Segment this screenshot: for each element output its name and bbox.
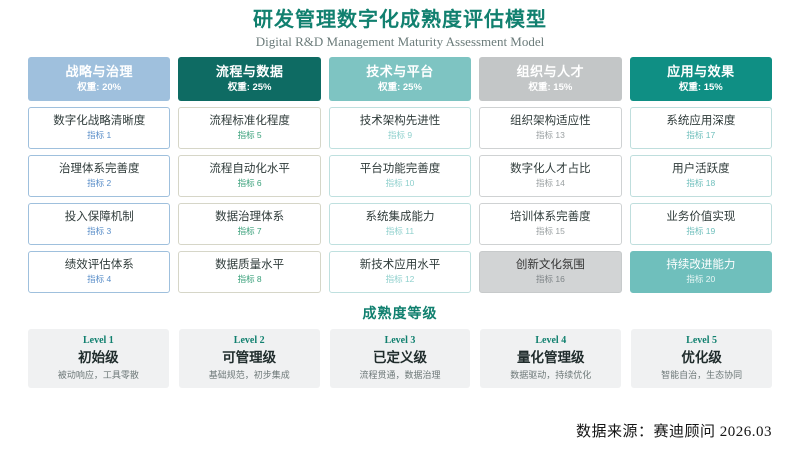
matrix-column-application: 应用与效果 权重: 15% 系统应用深度 指标 17 用户活跃度 指标 18 业… xyxy=(630,57,772,293)
indicator-index: 指标 6 xyxy=(238,179,262,188)
indicator-index: 指标 5 xyxy=(238,131,262,140)
data-source-footer: 数据来源：赛迪顾问 2026.03 xyxy=(576,420,772,441)
indicator-name: 系统应用深度 xyxy=(666,115,735,129)
indicator-card[interactable]: 治理体系完善度 指标 2 xyxy=(28,155,170,197)
matrix-column-process: 流程与数据 权重: 25% 流程标准化程度 指标 5 流程自动化水平 指标 6 … xyxy=(178,57,320,293)
indicator-name: 创新文化氛围 xyxy=(516,259,585,273)
indicator-name: 投入保障机制 xyxy=(65,211,134,225)
indicator-card-highlighted[interactable]: 创新文化氛围 指标 16 xyxy=(479,251,621,293)
indicator-card-highlighted[interactable]: 持续改进能力 指标 20 xyxy=(630,251,772,293)
indicator-name: 绩效评估体系 xyxy=(65,259,134,273)
slide-canvas: 研发管理数字化成熟度评估模型 Digital R&D Management Ma… xyxy=(0,0,800,453)
indicator-index: 指标 20 xyxy=(686,275,715,284)
indicator-index: 指标 16 xyxy=(536,275,565,284)
matrix-column-organization: 组织与人才 权重: 15% 组织架构适应性 指标 13 数字化人才占比 指标 1… xyxy=(479,57,621,293)
indicator-card[interactable]: 数据治理体系 指标 7 xyxy=(178,203,320,245)
indicator-card[interactable]: 系统集成能力 指标 11 xyxy=(329,203,471,245)
level-tag: Level 4 xyxy=(483,335,618,347)
indicator-card[interactable]: 业务价值实现 指标 19 xyxy=(630,203,772,245)
indicator-index: 指标 2 xyxy=(87,179,111,188)
level-tag: Level 1 xyxy=(31,335,166,347)
column-weight: 权重: 20% xyxy=(32,83,166,93)
indicator-index: 指标 3 xyxy=(87,227,111,236)
indicator-name: 新技术应用水平 xyxy=(360,259,441,273)
column-header-application: 应用与效果 权重: 15% xyxy=(630,57,772,101)
matrix-column-technology: 技术与平台 权重: 25% 技术架构先进性 指标 9 平台功能完善度 指标 10… xyxy=(329,57,471,293)
column-weight: 权重: 15% xyxy=(483,83,617,93)
level-name: 已定义级 xyxy=(333,350,468,366)
indicator-index: 指标 18 xyxy=(686,179,715,188)
column-weight: 权重: 15% xyxy=(634,83,768,93)
column-weight: 权重: 25% xyxy=(333,83,467,93)
column-header-strategy: 战略与治理 权重: 20% xyxy=(28,57,170,101)
column-title: 应用与效果 xyxy=(634,64,768,80)
page-subtitle: Digital R&D Management Maturity Assessme… xyxy=(28,34,772,51)
indicator-card[interactable]: 绩效评估体系 指标 4 xyxy=(28,251,170,293)
column-header-technology: 技术与平台 权重: 25% xyxy=(329,57,471,101)
indicator-name: 培训体系完善度 xyxy=(510,211,591,225)
indicator-card[interactable]: 技术架构先进性 指标 9 xyxy=(329,107,471,149)
indicator-index: 指标 7 xyxy=(238,227,262,236)
level-name: 可管理级 xyxy=(182,350,317,366)
column-title: 战略与治理 xyxy=(32,64,166,80)
level-card-5[interactable]: Level 5 优化级 智能自治，生态协同 xyxy=(631,329,772,388)
indicator-name: 数据治理体系 xyxy=(215,211,284,225)
indicator-index: 指标 17 xyxy=(686,131,715,140)
indicator-card[interactable]: 新技术应用水平 指标 12 xyxy=(329,251,471,293)
level-name: 优化级 xyxy=(634,350,769,366)
indicator-card[interactable]: 系统应用深度 指标 17 xyxy=(630,107,772,149)
indicator-name: 用户活跃度 xyxy=(672,163,730,177)
level-description: 流程贯通，数据治理 xyxy=(333,370,468,381)
level-card-4[interactable]: Level 4 量化管理级 数据驱动，持续优化 xyxy=(480,329,621,388)
indicator-index: 指标 8 xyxy=(238,275,262,284)
maturity-matrix: 战略与治理 权重: 20% 数字化战略清晰度 指标 1 治理体系完善度 指标 2… xyxy=(28,57,772,293)
indicator-name: 平台功能完善度 xyxy=(360,163,441,177)
indicator-name: 持续改进能力 xyxy=(666,259,735,273)
maturity-levels-title: 成熟度等级 xyxy=(28,303,772,323)
level-name: 初始级 xyxy=(31,350,166,366)
indicator-card[interactable]: 培训体系完善度 指标 15 xyxy=(479,203,621,245)
indicator-name: 流程自动化水平 xyxy=(209,163,290,177)
level-description: 基础规范，初步集成 xyxy=(182,370,317,381)
level-tag: Level 3 xyxy=(333,335,468,347)
matrix-column-strategy: 战略与治理 权重: 20% 数字化战略清晰度 指标 1 治理体系完善度 指标 2… xyxy=(28,57,170,293)
indicator-index: 指标 1 xyxy=(87,131,111,140)
title-block: 研发管理数字化成熟度评估模型 Digital R&D Management Ma… xyxy=(28,8,772,51)
indicator-name: 组织架构适应性 xyxy=(510,115,591,129)
indicator-name: 流程标准化程度 xyxy=(209,115,290,129)
level-name: 量化管理级 xyxy=(483,350,618,366)
column-title: 组织与人才 xyxy=(483,64,617,80)
indicator-card[interactable]: 平台功能完善度 指标 10 xyxy=(329,155,471,197)
level-card-3[interactable]: Level 3 已定义级 流程贯通，数据治理 xyxy=(330,329,471,388)
indicator-index: 指标 9 xyxy=(388,131,412,140)
level-description: 数据驱动，持续优化 xyxy=(483,370,618,381)
indicator-card[interactable]: 数字化人才占比 指标 14 xyxy=(479,155,621,197)
column-weight: 权重: 25% xyxy=(182,83,316,93)
level-description: 被动响应，工具零散 xyxy=(31,370,166,381)
indicator-name: 技术架构先进性 xyxy=(360,115,441,129)
indicator-index: 指标 14 xyxy=(536,179,565,188)
indicator-index: 指标 13 xyxy=(536,131,565,140)
indicator-card[interactable]: 流程自动化水平 指标 6 xyxy=(178,155,320,197)
column-header-process: 流程与数据 权重: 25% xyxy=(178,57,320,101)
indicator-name: 业务价值实现 xyxy=(666,211,735,225)
level-description: 智能自治，生态协同 xyxy=(634,370,769,381)
indicator-name: 治理体系完善度 xyxy=(59,163,140,177)
indicator-index: 指标 19 xyxy=(686,227,715,236)
level-tag: Level 5 xyxy=(634,335,769,347)
indicator-card[interactable]: 数字化战略清晰度 指标 1 xyxy=(28,107,170,149)
indicator-index: 指标 12 xyxy=(386,275,415,284)
level-card-2[interactable]: Level 2 可管理级 基础规范，初步集成 xyxy=(179,329,320,388)
level-tag: Level 2 xyxy=(182,335,317,347)
indicator-name: 数据质量水平 xyxy=(215,259,284,273)
indicator-card[interactable]: 投入保障机制 指标 3 xyxy=(28,203,170,245)
indicator-index: 指标 10 xyxy=(386,179,415,188)
indicator-card[interactable]: 组织架构适应性 指标 13 xyxy=(479,107,621,149)
column-header-organization: 组织与人才 权重: 15% xyxy=(479,57,621,101)
maturity-levels: Level 1 初始级 被动响应，工具零散 Level 2 可管理级 基础规范，… xyxy=(28,329,772,388)
indicator-index: 指标 4 xyxy=(87,275,111,284)
indicator-card[interactable]: 流程标准化程度 指标 5 xyxy=(178,107,320,149)
indicator-name: 数字化战略清晰度 xyxy=(53,115,145,129)
level-card-1[interactable]: Level 1 初始级 被动响应，工具零散 xyxy=(28,329,169,388)
indicator-name: 数字化人才占比 xyxy=(510,163,591,177)
indicator-name: 系统集成能力 xyxy=(366,211,435,225)
indicator-card[interactable]: 用户活跃度 指标 18 xyxy=(630,155,772,197)
column-title: 技术与平台 xyxy=(333,64,467,80)
indicator-card[interactable]: 数据质量水平 指标 8 xyxy=(178,251,320,293)
indicator-index: 指标 15 xyxy=(536,227,565,236)
indicator-index: 指标 11 xyxy=(386,227,414,236)
page-title: 研发管理数字化成熟度评估模型 xyxy=(28,8,772,33)
column-title: 流程与数据 xyxy=(182,64,316,80)
